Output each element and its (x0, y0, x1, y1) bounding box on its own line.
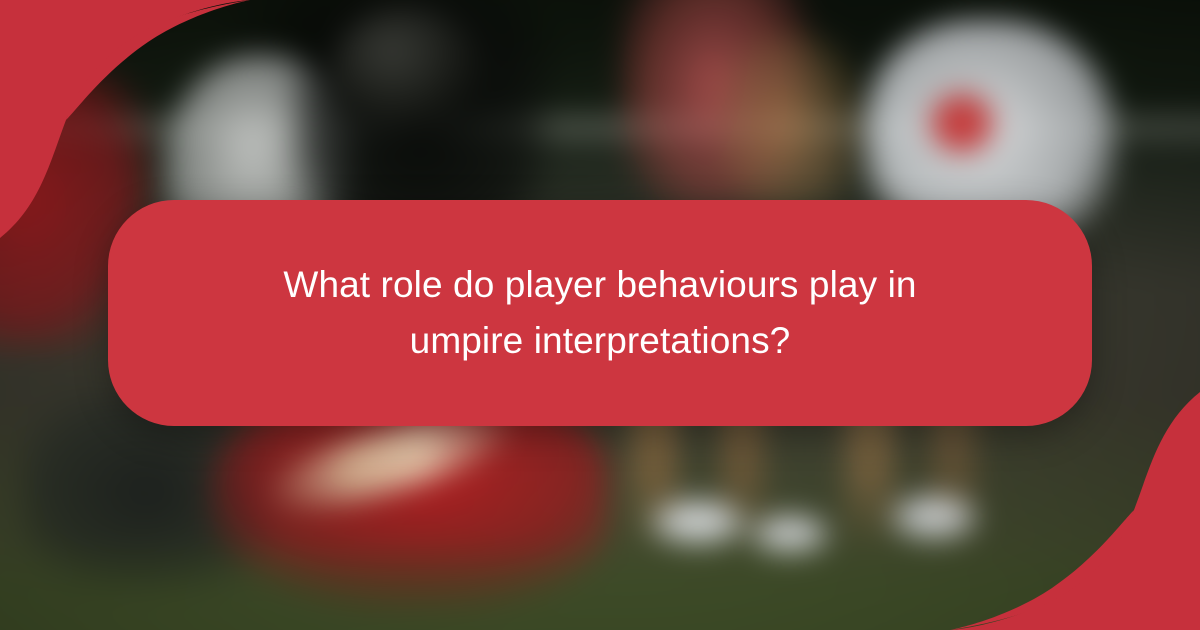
poster-canvas: What role do player behaviours play in u… (0, 0, 1200, 630)
question-text: What role do player behaviours play in u… (255, 257, 945, 369)
question-card: What role do player behaviours play in u… (108, 200, 1092, 426)
